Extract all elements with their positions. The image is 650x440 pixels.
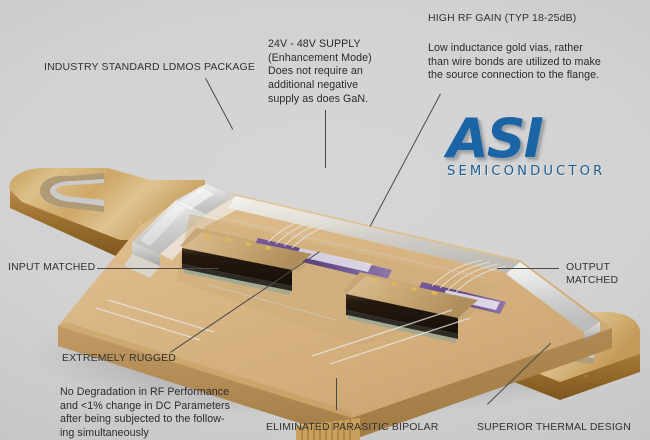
illustration-canvas: INDUSTRY STANDARD LDMOS PACKAGE 24V - 48… [0,0,650,440]
leader-line-parasitic-bipolar [336,378,337,410]
callout-output-matched: OUTPUT MATCHED [566,261,650,288]
callout-superior-thermal-design: SUPERIOR THERMAL DESIGN [477,421,631,434]
leader-line-supply [325,110,326,168]
callout-input-matched: INPUT MATCHED [8,261,95,274]
logo-tagline: SEMICONDUCTOR [447,164,597,179]
callout-low-inductance-gold-vias: Low inductance gold vias, rather than wi… [428,42,601,83]
leader-line-output-matched [497,268,559,269]
callout-supply-voltage: 24V - 48V SUPPLY (Enhancement Mode) Does… [268,38,372,106]
asi-logo: ASI SEMICONDUCTOR [447,112,597,188]
callout-no-degradation: No Degradation in RF Performance and <1%… [60,386,230,440]
callout-extremely-rugged: EXTREMELY RUGGED [62,352,176,365]
callout-industry-standard-ldmos-package: INDUSTRY STANDARD LDMOS PACKAGE [44,61,255,74]
leader-line-input-matched [97,268,219,269]
callout-high-rf-gain: HIGH RF GAIN (TYP 18-25dB) [428,12,576,25]
callout-eliminated-parasitic-bipolar: ELIMINATED PARASITIC BIPOLAR [266,421,438,434]
leader-line-ldmos-package [205,78,233,130]
logo-wordmark: ASI [447,112,597,166]
